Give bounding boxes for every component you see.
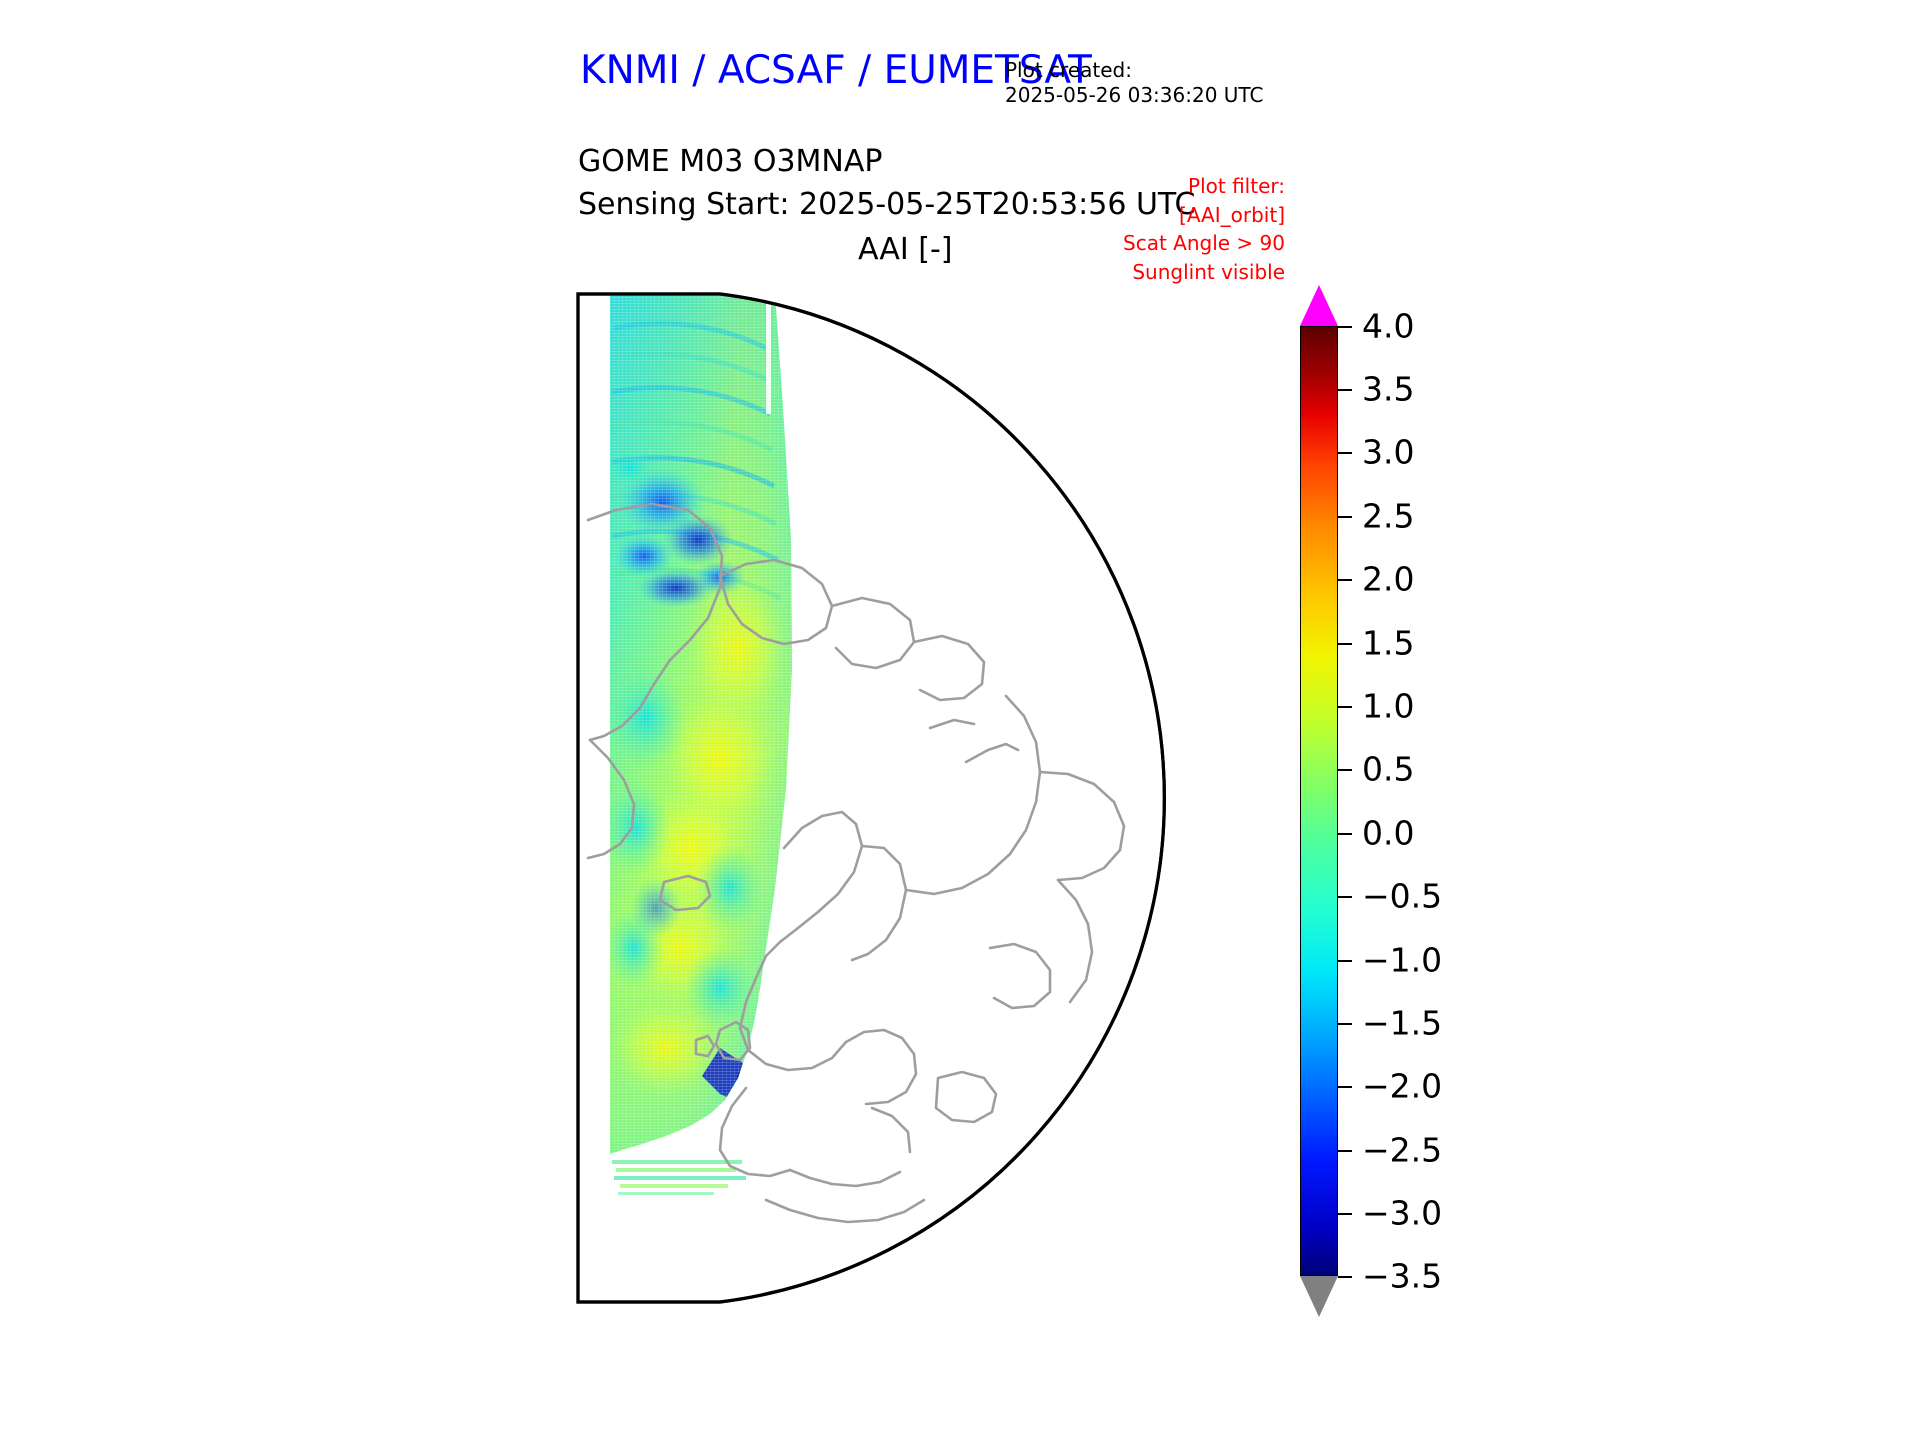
colorbar-tick-label: 1.0 <box>1362 687 1414 726</box>
colorbar-tick-label: −3.5 <box>1362 1257 1442 1296</box>
colorbar-tick <box>1338 1023 1352 1025</box>
colorbar-tick-label: −1.5 <box>1362 1004 1442 1043</box>
plot-filter-scat-angle: Scat Angle > 90 <box>1060 229 1285 258</box>
colorbar-tick <box>1338 326 1352 328</box>
quantity-label: AAI [-] <box>858 232 953 267</box>
plot-filter-sunglint: Sunglint visible <box>1060 258 1285 287</box>
plot-canvas: KNMI / ACSAF / EUMETSAT Plot created: 20… <box>0 0 1920 1440</box>
colorbar-tick <box>1338 1276 1352 1278</box>
colorbar-under-arrow <box>1300 1276 1338 1317</box>
colorbar-tick-label: 0.0 <box>1362 814 1414 853</box>
colorbar-tick <box>1338 833 1352 835</box>
colorbar-tick-label: 2.0 <box>1362 560 1414 599</box>
colorbar-tick <box>1338 516 1352 518</box>
colorbar-tick-label: −2.0 <box>1362 1067 1442 1106</box>
plot-filter-block: Plot filter: [AAI_orbit] Scat Angle > 90… <box>1060 172 1285 286</box>
colorbar-tick <box>1338 706 1352 708</box>
swath-gap <box>766 294 771 414</box>
colorbar-tick <box>1338 643 1352 645</box>
map-panel <box>570 288 1285 1308</box>
colorbar-tick <box>1338 1150 1352 1152</box>
colorbar-tick-label: 3.5 <box>1362 370 1414 409</box>
colorbar-over-arrow <box>1300 285 1338 326</box>
colorbar-tick-label: 3.0 <box>1362 433 1414 472</box>
colorbar-tick-label: 1.5 <box>1362 624 1414 663</box>
plot-filter-orbit: [AAI_orbit] <box>1060 201 1285 230</box>
colorbar-tick-label: −3.0 <box>1362 1194 1442 1233</box>
plot-created-label: Plot created: <box>1005 58 1285 83</box>
colorbar-tick <box>1338 1086 1352 1088</box>
colorbar-gradient <box>1300 326 1338 1276</box>
colorbar-tick-label: 2.5 <box>1362 497 1414 536</box>
colorbar-tick-label: −1.0 <box>1362 941 1442 980</box>
plot-filter-title: Plot filter: <box>1060 172 1285 201</box>
colorbar-tick-label: −2.5 <box>1362 1131 1442 1170</box>
plot-created-timestamp: 2025-05-26 03:36:20 UTC <box>1005 83 1285 108</box>
colorbar-tick-label: −0.5 <box>1362 877 1442 916</box>
colorbar-tick <box>1338 579 1352 581</box>
colorbar-tick <box>1338 896 1352 898</box>
colorbar-tick <box>1338 452 1352 454</box>
colorbar-tick <box>1338 960 1352 962</box>
colorbar-tick <box>1338 1213 1352 1215</box>
colorbar: 4.0 3.5 3.0 2.5 2.0 1.5 1.0 0.5 0.0 −0.5… <box>1292 282 1622 1322</box>
colorbar-tick-label: 0.5 <box>1362 750 1414 789</box>
colorbar-tick-label: 4.0 <box>1362 307 1414 346</box>
colorbar-tick <box>1338 389 1352 391</box>
plot-created-block: Plot created: 2025-05-26 03:36:20 UTC <box>1005 58 1285 108</box>
map-svg <box>570 288 1285 1308</box>
colorbar-tick <box>1338 769 1352 771</box>
